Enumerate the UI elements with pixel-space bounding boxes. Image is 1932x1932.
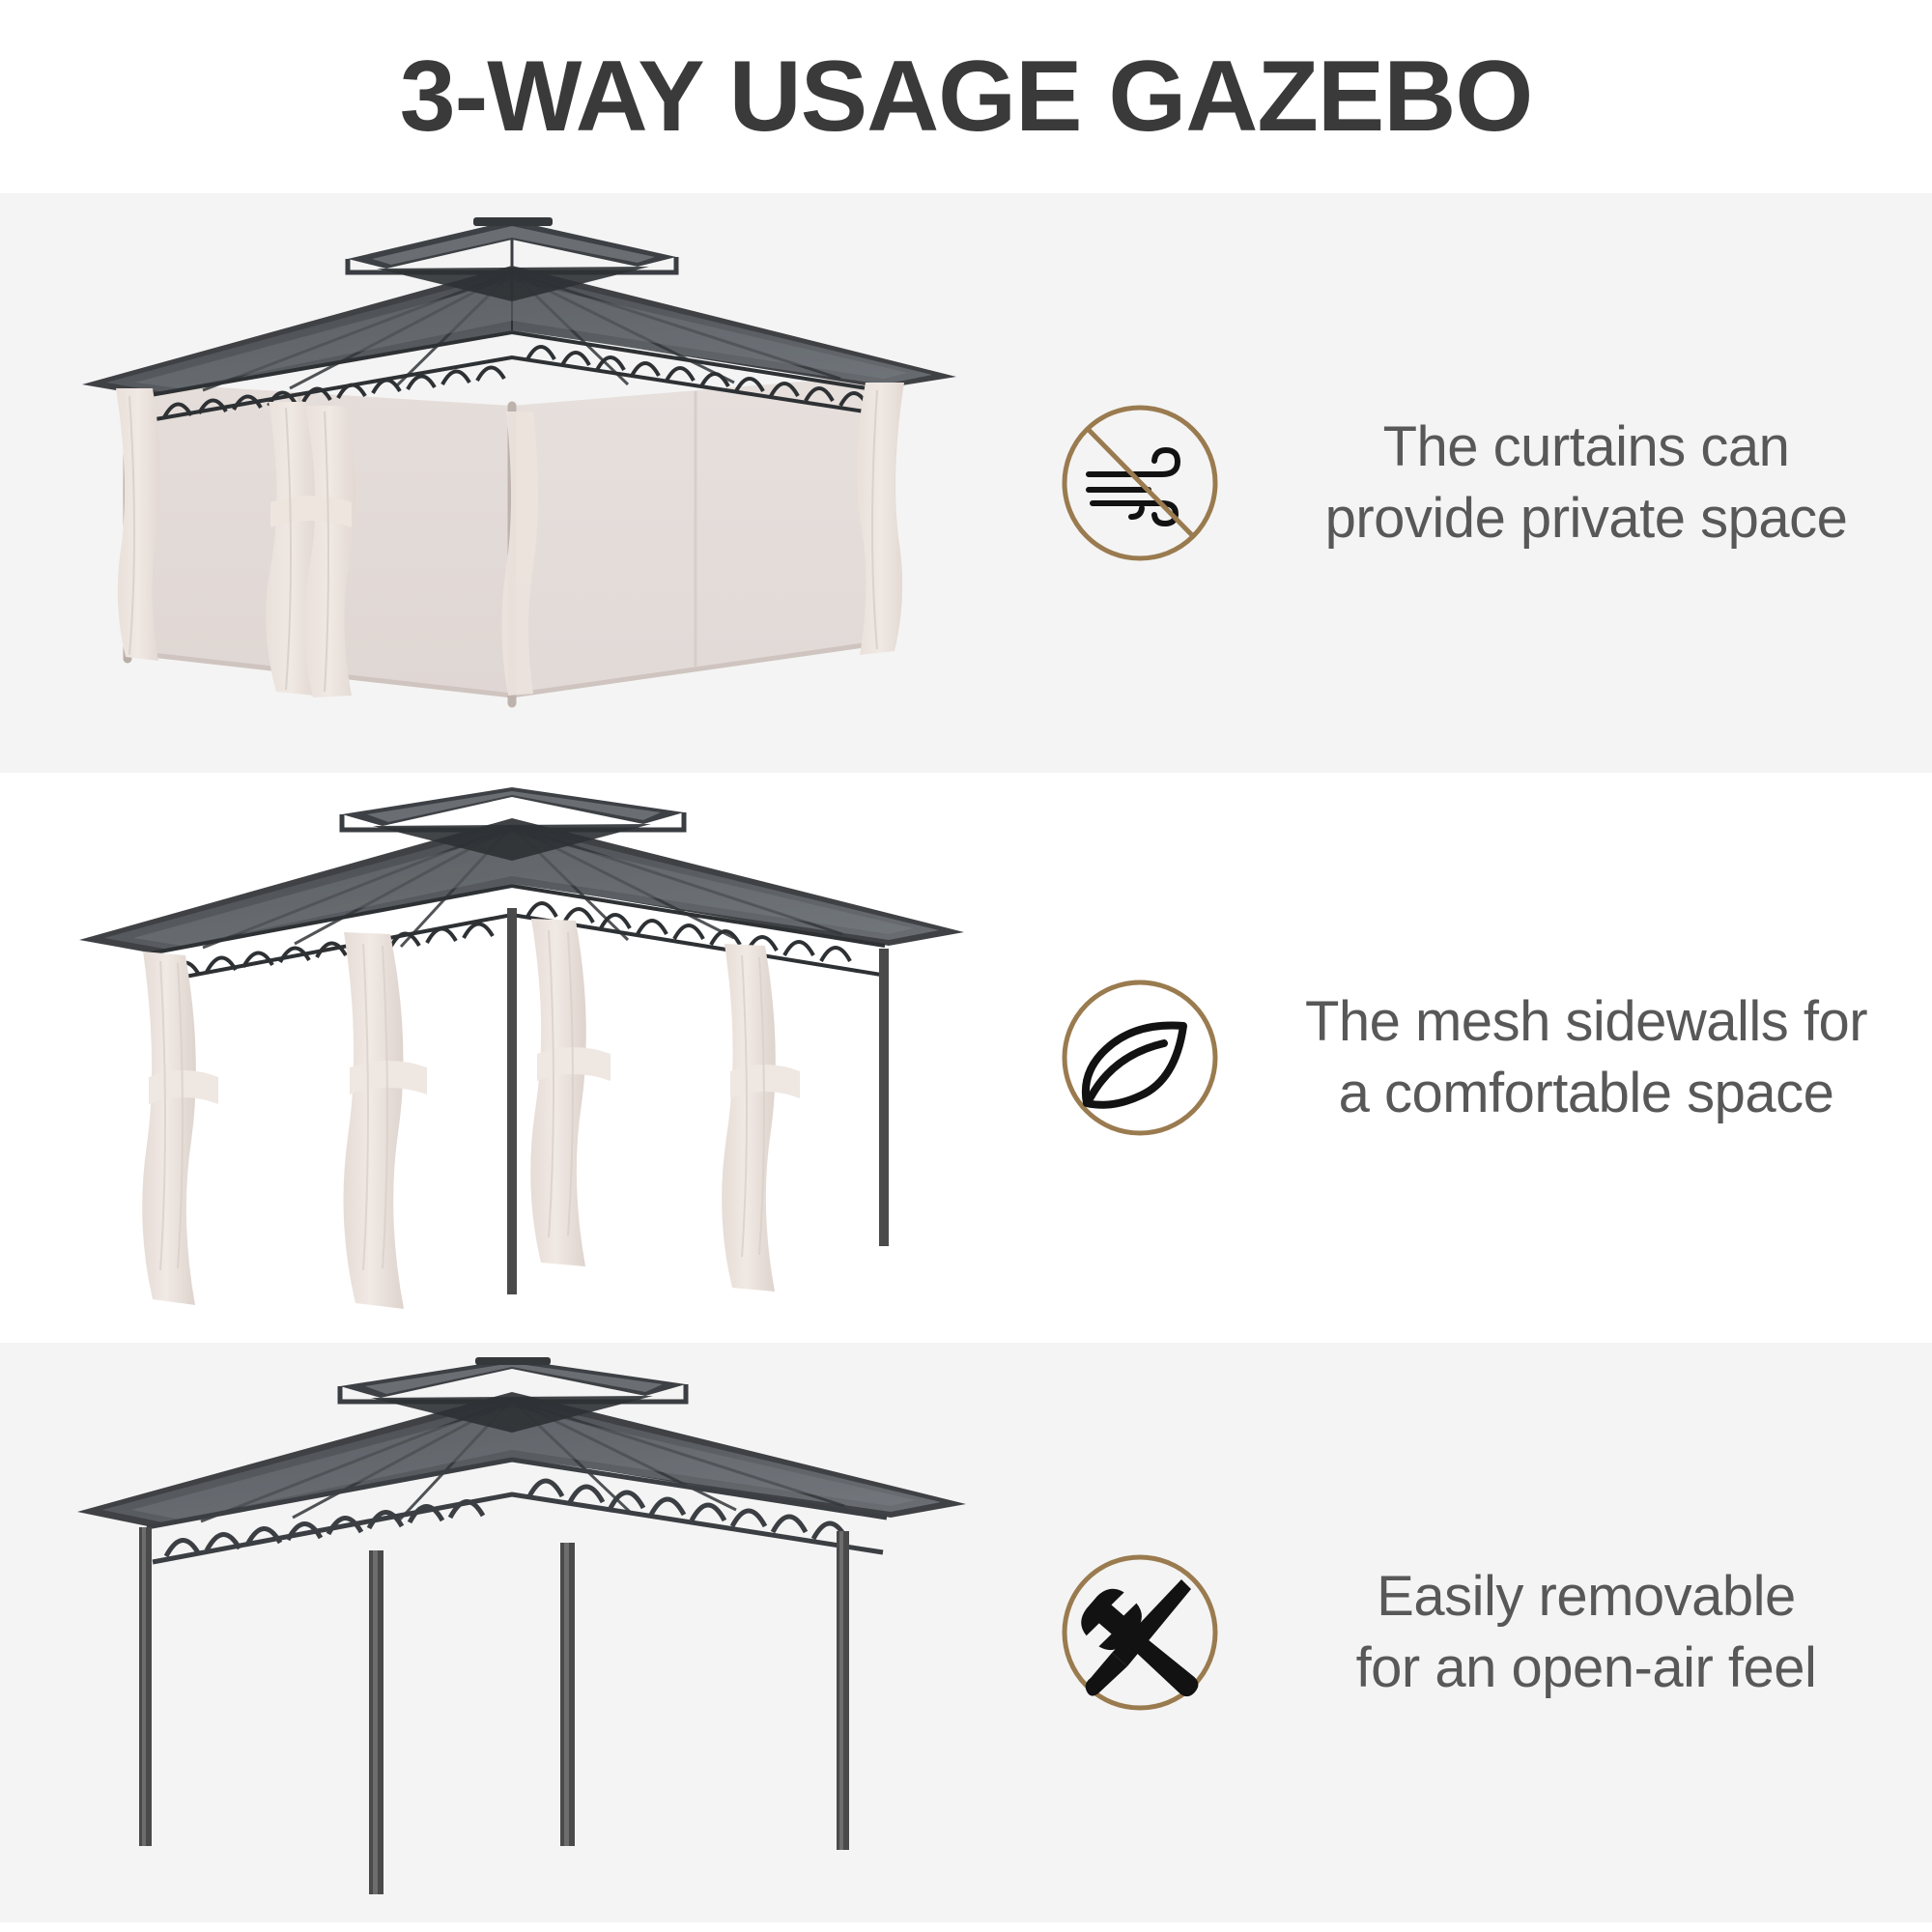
feature-1-text: The curtains can provide private space: [1269, 412, 1903, 554]
feature-panel-frame: Easily removable for an open-air feel: [0, 1343, 1932, 1922]
feature-2-line-2: a comfortable space: [1269, 1058, 1903, 1129]
feature-1-line-1: The curtains can: [1269, 412, 1903, 483]
no-wind-icon: [1043, 386, 1236, 580]
roof-upper-tier: [348, 217, 676, 301]
title-bar: 3-WAY USAGE GAZEBO: [0, 0, 1932, 193]
page-title: 3-WAY USAGE GAZEBO: [400, 40, 1532, 155]
gazebo-image-1: [0, 193, 1043, 773]
gazebo-with-mesh-illustration: [58, 213, 985, 753]
gazebo-image-3: [0, 1343, 1043, 1922]
gazebo-bare-frame-illustration: [58, 1357, 985, 1908]
feature-3-line-1: Easily removable: [1269, 1561, 1903, 1633]
feature-3-line-2: for an open-air feel: [1269, 1633, 1903, 1704]
gazebo-image-2: [0, 773, 1043, 1343]
infographic-page: 3-WAY USAGE GAZEBO: [0, 0, 1932, 1932]
feature-2-text: The mesh sidewalls for a comfortable spa…: [1269, 986, 1903, 1129]
feature-panel-curtains: The curtains can provide private space: [0, 193, 1932, 773]
feature-1: The curtains can provide private space: [1043, 193, 1932, 773]
curtains: [142, 919, 800, 1309]
feature-1-line-2: provide private space: [1269, 483, 1903, 554]
feature-2-line-1: The mesh sidewalls for: [1269, 986, 1903, 1058]
feature-3: Easily removable for an open-air feel: [1043, 1343, 1932, 1922]
tools-icon: [1043, 1536, 1236, 1729]
feature-2: The mesh sidewalls for a comfortable spa…: [1043, 773, 1932, 1343]
gazebo-with-curtains-illustration: [58, 787, 985, 1328]
feature-panel-mesh: The mesh sidewalls for a comfortable spa…: [0, 773, 1932, 1343]
leaf-icon: [1043, 961, 1236, 1154]
feature-3-text: Easily removable for an open-air feel: [1269, 1561, 1903, 1704]
gazebo-posts: [139, 1527, 849, 1894]
